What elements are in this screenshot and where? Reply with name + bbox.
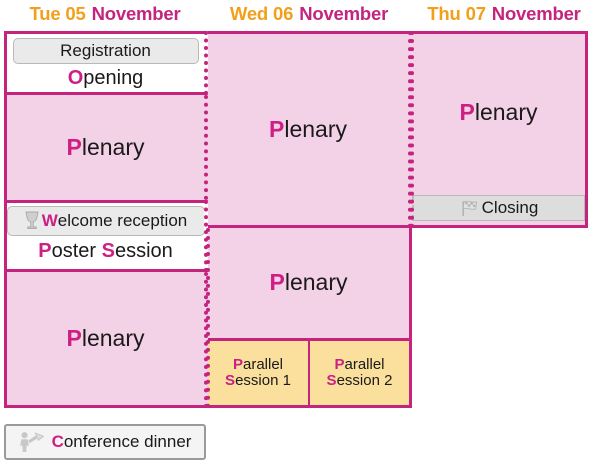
schedule-header: Tue 05 November Wed 06 November Thu 07 N… — [0, 0, 600, 28]
event-closing-label: Closing — [482, 199, 539, 218]
event-wednesday-plenary-morning-label: Plenary — [269, 117, 347, 142]
day-header-tuesday: Tue 05 November — [0, 0, 210, 28]
day-column-thursday: Plenary Closing — [412, 31, 588, 228]
day-column-wednesday: Plenary Plenary ParallelSession 1 Parall… — [208, 31, 412, 408]
day-header-wednesday-date: 06 — [273, 3, 293, 25]
schedule-grid: Registration Opening Plenary Welcome rec… — [4, 31, 588, 409]
event-parallel-session-1-label: ParallelSession 1 — [225, 357, 291, 390]
event-poster-session[interactable]: Poster Session — [7, 236, 205, 266]
event-poster-session-label: Poster Session — [38, 240, 173, 262]
event-conference-dinner-label: Conference dinner — [52, 433, 192, 452]
day-header-wednesday-month: November — [299, 3, 388, 25]
day-header-thursday: Thu 07 November — [408, 0, 600, 28]
day-header-tuesday-date: 05 — [65, 3, 85, 25]
wednesday-lower-dotted-divider — [206, 228, 210, 408]
event-wednesday-plenary-afternoon[interactable]: Plenary — [208, 228, 412, 338]
event-tuesday-plenary-afternoon[interactable]: Plenary — [4, 272, 208, 408]
checkered-flag-icon — [460, 200, 480, 217]
day-header-thursday-month: November — [492, 3, 581, 25]
event-thursday-plenary[interactable]: Plenary — [412, 31, 588, 191]
event-tuesday-plenary-morning[interactable]: Plenary — [4, 95, 208, 200]
event-registration[interactable]: Registration — [13, 38, 199, 64]
tuesday-morning-block: Registration Opening — [4, 31, 208, 95]
day-header-tuesday-dow: Tue — [30, 3, 61, 25]
event-conference-dinner[interactable]: Conference dinner — [4, 424, 206, 460]
day-header-wednesday-dow: Wed — [230, 3, 268, 25]
thursday-closing-block: Closing — [412, 191, 588, 228]
event-thursday-plenary-label: Plenary — [460, 100, 538, 125]
event-welcome-reception-label: Welcome reception — [42, 212, 188, 231]
event-closing[interactable]: Closing — [412, 195, 585, 221]
event-tuesday-plenary-afternoon-label: Plenary — [67, 326, 145, 351]
day-column-tuesday: Registration Opening Plenary Welcome rec… — [4, 31, 208, 408]
event-tuesday-plenary-morning-label: Plenary — [67, 135, 145, 160]
wine-glass-icon — [24, 211, 40, 231]
dinner-icon — [19, 431, 45, 453]
event-parallel-session-2[interactable]: ParallelSession 2 — [310, 338, 412, 408]
event-opening-label: Opening — [68, 67, 144, 89]
conference-dinner-row: Conference dinner — [4, 424, 206, 460]
event-opening[interactable]: Opening — [13, 64, 199, 92]
event-parallel-session-2-label: ParallelSession 2 — [327, 357, 393, 390]
day-header-tuesday-month: November — [92, 3, 181, 25]
day-header-wednesday: Wed 06 November — [210, 0, 408, 28]
tuesday-evening-block: Welcome reception Poster Session — [4, 200, 208, 272]
day-header-thursday-date: 07 — [466, 3, 486, 25]
event-registration-label: Registration — [60, 42, 151, 61]
thursday-dotted-divider — [410, 31, 414, 228]
event-wednesday-plenary-afternoon-label: Plenary — [270, 270, 348, 295]
event-parallel-session-1[interactable]: ParallelSession 1 — [208, 338, 310, 408]
day-header-thursday-dow: Thu — [427, 3, 460, 25]
event-wednesday-plenary-morning[interactable]: Plenary — [208, 31, 412, 228]
event-welcome-reception[interactable]: Welcome reception — [7, 206, 205, 236]
